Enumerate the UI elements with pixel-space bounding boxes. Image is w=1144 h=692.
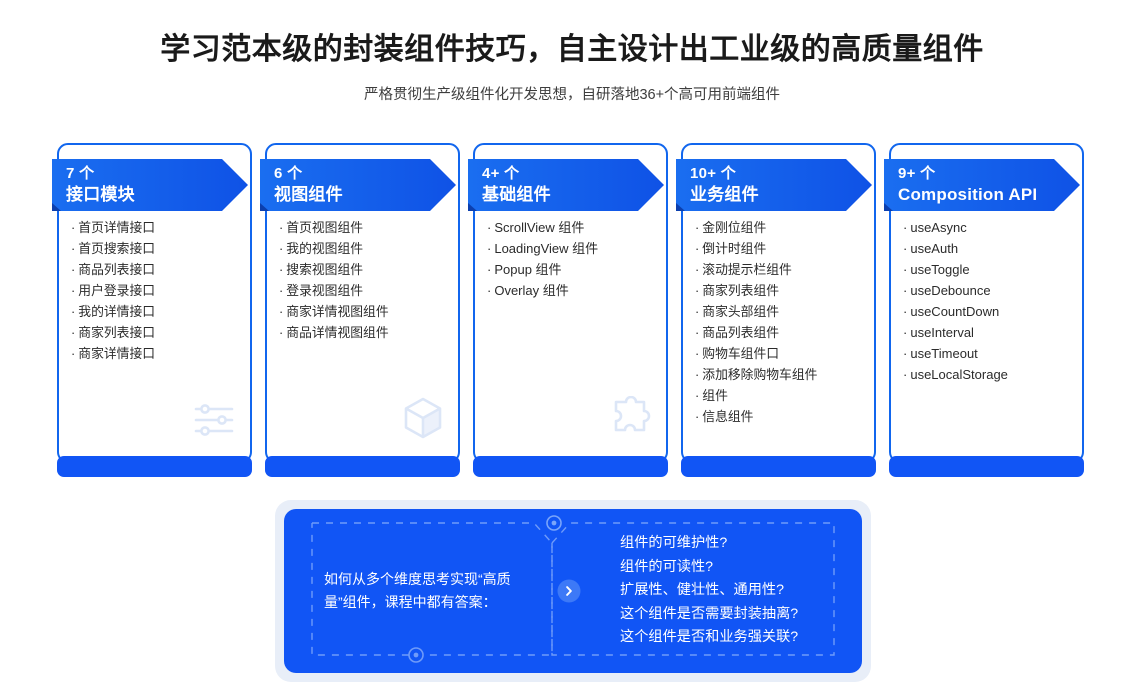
card-list-item: 添加移除购物车组件 — [695, 364, 866, 385]
card-ribbon-text: 6 个 视图组件 — [274, 164, 343, 206]
card-list-item: 商品详情视图组件 — [279, 322, 450, 343]
card-list-item: 首页视图组件 — [279, 217, 450, 238]
card-list-item: 商家详情视图组件 — [279, 301, 450, 322]
ribbon-shape-glyph — [468, 159, 670, 213]
card-ribbon-shape — [468, 159, 670, 213]
card-list-item: useTimeout — [903, 343, 1074, 364]
card-list-item: 商家详情接口 — [71, 343, 242, 364]
card-title: 业务组件 — [690, 184, 759, 205]
card-list-item: useAuth — [903, 238, 1074, 259]
card-list-item: 我的详情接口 — [71, 301, 242, 322]
card-list-item: 信息组件 — [695, 406, 866, 427]
card-list-item: 组件 — [695, 385, 866, 406]
summary-question: 这个组件是否需要封装抽离? — [620, 603, 862, 627]
summary-question: 扩展性、健壮性、通用性? — [620, 579, 862, 603]
summary-question: 组件的可维护性? — [620, 532, 862, 556]
card-item-list: 金刚位组件倒计时组件滚动提示栏组件商家列表组件商家头部组件商品列表组件购物车组件… — [683, 217, 874, 461]
card-ribbon: 4+ 个 基础组件 — [468, 159, 670, 213]
card-list-item: 我的视图组件 — [279, 238, 450, 259]
card-count: 10+ 个 — [690, 164, 759, 184]
summary-question: 组件的可读性? — [620, 556, 862, 580]
card-count: 4+ 个 — [482, 164, 551, 184]
card-ribbon: 9+ 个 Composition API — [884, 159, 1086, 213]
page-subtitle: 严格贯彻生产级组件化开发思想，自研落地36+个高可用前端组件 — [0, 83, 1144, 104]
card-title: 视图组件 — [274, 184, 343, 205]
card-list-item: useInterval — [903, 322, 1074, 343]
card-list-item: 商家列表组件 — [695, 280, 866, 301]
card-list-item: 商品列表接口 — [71, 259, 242, 280]
card-item-list: 首页视图组件我的视图组件搜索视图组件登录视图组件商家详情视图组件商品详情视图组件 — [267, 217, 458, 461]
ribbon-shape-glyph — [884, 159, 1086, 213]
card-ribbon-text: 9+ 个 Composition API — [898, 164, 1037, 206]
card-list-item: useLocalStorage — [903, 364, 1074, 385]
card-list-item: ScrollView 组件 — [487, 217, 658, 238]
card-item-list: 首页详情接口首页搜索接口商品列表接口用户登录接口我的详情接口商家列表接口商家详情… — [59, 217, 250, 461]
card-ribbon: 7 个 接口模块 — [52, 159, 254, 213]
summary-prompt-line-1: 如何从多个维度思考实现“高质 — [324, 568, 511, 591]
feature-cards-row: 7 个 接口模块 首页详情接口首页搜索接口商品列表接口用户登录接口我的详情接口商… — [57, 143, 1087, 463]
summary-question: 这个组件是否和业务强关联? — [620, 626, 862, 650]
ribbon-shape-glyph — [52, 159, 254, 213]
card-count: 9+ 个 — [898, 164, 1037, 184]
card-item-list: useAsyncuseAuthuseToggleuseDebounceuseCo… — [891, 217, 1082, 461]
card-list-item: LoadingView 组件 — [487, 238, 658, 259]
card-title: Composition API — [898, 184, 1037, 205]
card-ribbon-text: 4+ 个 基础组件 — [482, 164, 551, 206]
card-count: 6 个 — [274, 164, 343, 184]
card-count: 7 个 — [66, 164, 135, 184]
card-list-item: 商家列表接口 — [71, 322, 242, 343]
card-list-item: 商品列表组件 — [695, 322, 866, 343]
card-list-item: 搜索视图组件 — [279, 259, 450, 280]
chevron-right-icon — [558, 580, 581, 603]
card-list-item: 倒计时组件 — [695, 238, 866, 259]
feature-card[interactable]: 6 个 视图组件 首页视图组件我的视图组件搜索视图组件登录视图组件商家详情视图组… — [265, 143, 460, 463]
ribbon-shape-glyph — [260, 159, 462, 213]
card-list-item: 登录视图组件 — [279, 280, 450, 301]
card-ribbon-shape — [52, 159, 254, 213]
card-item-list: ScrollView 组件LoadingView 组件Popup 组件Overl… — [475, 217, 666, 461]
page-title: 学习范本级的封装组件技巧，自主设计出工业级的高质量组件 — [0, 30, 1144, 69]
ribbon-shape-glyph — [676, 159, 878, 213]
summary-prompt: 如何从多个维度思考实现“高质 量”组件，课程中都有答案： — [284, 509, 576, 673]
card-ribbon: 10+ 个 业务组件 — [676, 159, 878, 213]
card-list-item: useDebounce — [903, 280, 1074, 301]
card-ribbon-shape — [260, 159, 462, 213]
card-ribbon-shape — [676, 159, 878, 213]
summary-question-list: 组件的可维护性?组件的可读性?扩展性、健壮性、通用性?这个组件是否需要封装抽离?… — [576, 509, 862, 673]
summary-prompt-text: 如何从多个维度思考实现“高质 量”组件，课程中都有答案： — [324, 568, 511, 614]
card-title: 接口模块 — [66, 184, 135, 205]
card-list-item: 用户登录接口 — [71, 280, 242, 301]
card-list-item: 滚动提示栏组件 — [695, 259, 866, 280]
card-title: 基础组件 — [482, 184, 551, 205]
poster-page: 学习范本级的封装组件技巧，自主设计出工业级的高质量组件 严格贯彻生产级组件化开发… — [0, 0, 1144, 692]
summary-panel-frame: 如何从多个维度思考实现“高质 量”组件，课程中都有答案： 组件的可维护性?组件的… — [275, 500, 871, 682]
card-list-item: 金刚位组件 — [695, 217, 866, 238]
card-list-item: useAsync — [903, 217, 1074, 238]
card-ribbon-text: 7 个 接口模块 — [66, 164, 135, 206]
card-ribbon-text: 10+ 个 业务组件 — [690, 164, 759, 206]
summary-prompt-line-2: 量”组件，课程中都有答案： — [324, 591, 511, 614]
card-list-item: 商家头部组件 — [695, 301, 866, 322]
feature-card[interactable]: 10+ 个 业务组件 金刚位组件倒计时组件滚动提示栏组件商家列表组件商家头部组件… — [681, 143, 876, 463]
card-list-item: useCountDown — [903, 301, 1074, 322]
card-list-item: Popup 组件 — [487, 259, 658, 280]
card-list-item: Overlay 组件 — [487, 280, 658, 301]
summary-panel: 如何从多个维度思考实现“高质 量”组件，课程中都有答案： 组件的可维护性?组件的… — [284, 509, 862, 673]
feature-card[interactable]: 4+ 个 基础组件 ScrollView 组件LoadingView 组件Pop… — [473, 143, 668, 463]
header: 学习范本级的封装组件技巧，自主设计出工业级的高质量组件 严格贯彻生产级组件化开发… — [0, 0, 1144, 104]
feature-card[interactable]: 7 个 接口模块 首页详情接口首页搜索接口商品列表接口用户登录接口我的详情接口商… — [57, 143, 252, 463]
feature-card[interactable]: 9+ 个 Composition API useAsyncuseAuthuseT… — [889, 143, 1084, 463]
card-list-item: 首页搜索接口 — [71, 238, 242, 259]
card-list-item: 购物车组件口 — [695, 343, 866, 364]
card-list-item: useToggle — [903, 259, 1074, 280]
card-ribbon-shape — [884, 159, 1086, 213]
chevron-right-glyph — [564, 586, 575, 597]
card-list-item: 首页详情接口 — [71, 217, 242, 238]
card-ribbon: 6 个 视图组件 — [260, 159, 462, 213]
